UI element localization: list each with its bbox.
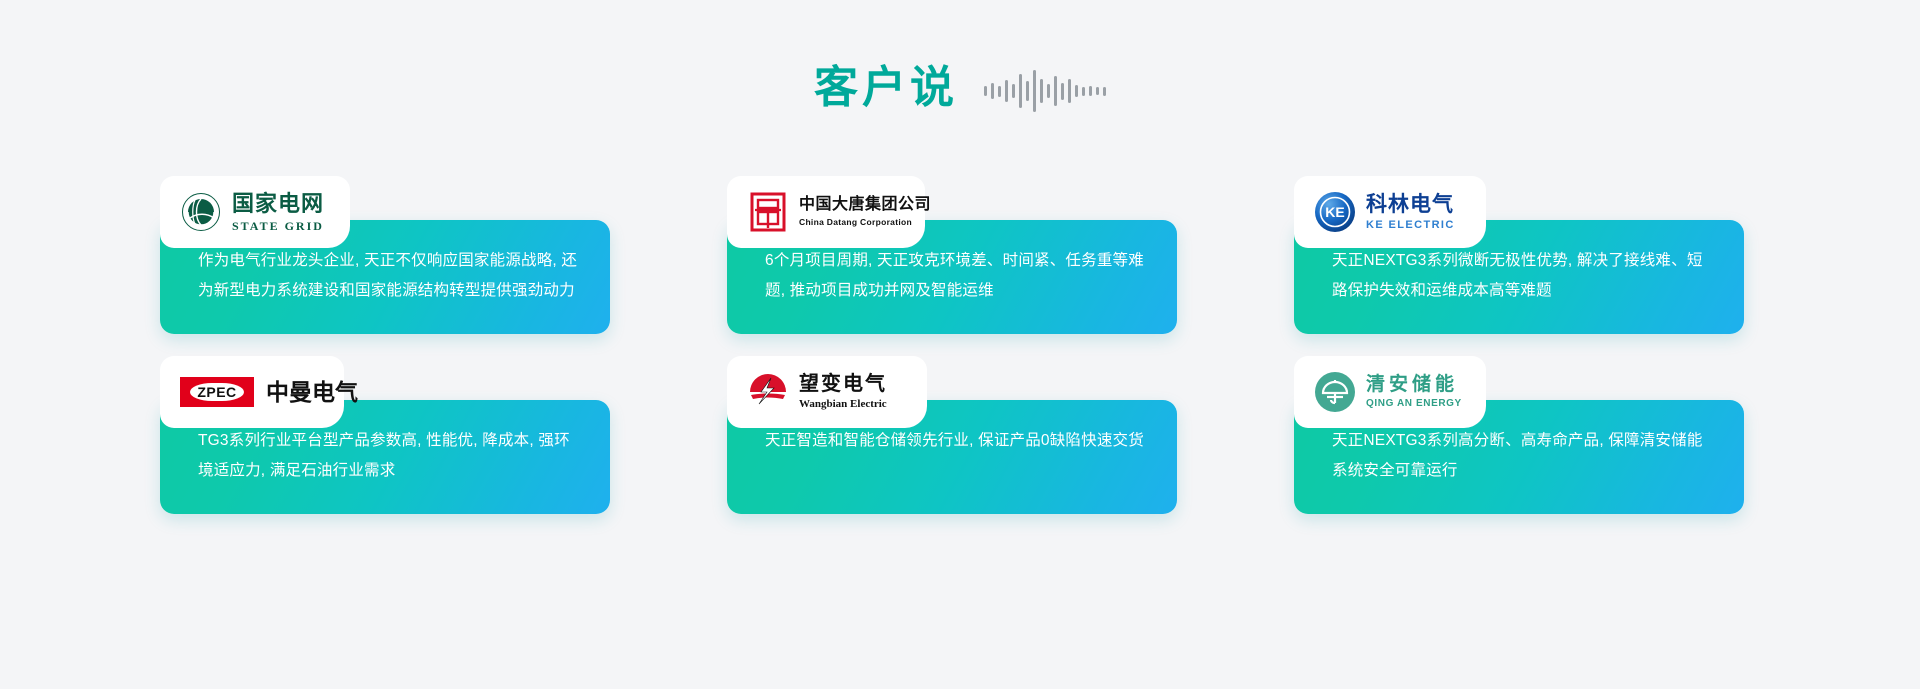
state-grid-globe-icon <box>180 191 222 233</box>
testimonial-grid: 作为电气行业龙头企业, 天正不仅响应国家能源战略, 还为新型电力系统建设和国家能… <box>160 176 1770 514</box>
testimonial-quote: 天正NEXTG3系列高分断、高寿命产品, 保障清安储能系统安全可靠运行 <box>1332 426 1714 486</box>
testimonial-card[interactable]: 天正智造和智能仓储领先行业, 保证产品0缺陷快速交货 望变电气 Wangbian… <box>727 356 1177 514</box>
brand-logo-badge: 清安储能 QING AN ENERGY <box>1294 356 1486 428</box>
wangbian-flame-icon <box>747 371 789 413</box>
testimonial-card[interactable]: 6个月项目周期, 天正攻克环境差、时间紧、任务重等难题, 推动项目成功并网及智能… <box>727 176 1177 334</box>
brand-logo-badge: KE 科林电气 KE ELECTRIC <box>1294 176 1486 248</box>
brand-logo-badge: 中国大唐集团公司 China Datang Corporation <box>727 176 925 248</box>
brand-name-cn: 望变电气 <box>799 374 887 394</box>
qingan-umbrella-icon <box>1314 371 1356 413</box>
testimonial-card[interactable]: 天正NEXTG3系列微断无极性优势, 解决了接线难、短路保护失效和运维成本高等难… <box>1294 176 1744 334</box>
brand-logo-words: 科林电气 KE ELECTRIC <box>1366 194 1455 231</box>
brand-name-cn: 科林电气 <box>1366 194 1455 215</box>
audio-waveform-icon <box>984 62 1106 114</box>
brand-logo-badge: ZPEC 中曼电气 <box>160 356 344 428</box>
testimonial-card[interactable]: TG3系列行业平台型产品参数高, 性能优, 降成本, 强环境适应力, 满足石油行… <box>160 356 610 514</box>
datang-seal-icon <box>747 191 789 233</box>
brand-name-en: STATE GRID <box>232 220 324 232</box>
svg-text:KE: KE <box>1325 204 1344 220</box>
brand-logo-words: 望变电气 Wangbian Electric <box>799 374 887 410</box>
brand-logo-badge: 国家电网 STATE GRID <box>160 176 350 248</box>
section-header: 客户说 <box>0 62 1920 114</box>
brand-logo-badge: 望变电气 Wangbian Electric <box>727 356 927 428</box>
customer-testimonials-page: 客户说 作为电气行业龙头企业, 天正不仅响应国家能源战略 <box>0 0 1920 689</box>
brand-name-cn: 清安储能 <box>1366 375 1462 394</box>
brand-name-cn: 国家电网 <box>232 193 324 215</box>
brand-name-en: Wangbian Electric <box>799 399 887 410</box>
brand-name-en: KE ELECTRIC <box>1366 220 1455 231</box>
brand-name-en: ZPEC <box>190 383 243 401</box>
zpec-pill-icon: ZPEC <box>180 377 254 407</box>
brand-logo-words: 中国大唐集团公司 China Datang Corporation <box>799 197 931 227</box>
brand-name-cn: 中曼电气 <box>266 381 358 404</box>
testimonial-card[interactable]: 作为电气行业龙头企业, 天正不仅响应国家能源战略, 还为新型电力系统建设和国家能… <box>160 176 610 334</box>
page-title: 客户说 <box>814 66 958 110</box>
brand-logo-words: 中曼电气 <box>266 381 358 404</box>
brand-logo-words: 国家电网 STATE GRID <box>232 193 324 232</box>
testimonial-quote: 6个月项目周期, 天正攻克环境差、时间紧、任务重等难题, 推动项目成功并网及智能… <box>765 246 1147 306</box>
brand-name-cn: 中国大唐集团公司 <box>799 197 931 213</box>
testimonial-quote: 天正智造和智能仓储领先行业, 保证产品0缺陷快速交货 <box>765 426 1147 456</box>
testimonial-quote: 作为电气行业龙头企业, 天正不仅响应国家能源战略, 还为新型电力系统建设和国家能… <box>198 246 580 306</box>
testimonial-quote: TG3系列行业平台型产品参数高, 性能优, 降成本, 强环境适应力, 满足石油行… <box>198 426 580 486</box>
brand-logo-words: 清安储能 QING AN ENERGY <box>1366 375 1462 409</box>
brand-name-en: China Datang Corporation <box>799 218 931 227</box>
testimonial-quote: 天正NEXTG3系列微断无极性优势, 解决了接线难、短路保护失效和运维成本高等难… <box>1332 246 1714 306</box>
testimonial-card[interactable]: 天正NEXTG3系列高分断、高寿命产品, 保障清安储能系统安全可靠运行 清安储能 <box>1294 356 1744 514</box>
ke-electric-circle-icon: KE <box>1314 191 1356 233</box>
brand-name-en: QING AN ENERGY <box>1366 399 1462 409</box>
